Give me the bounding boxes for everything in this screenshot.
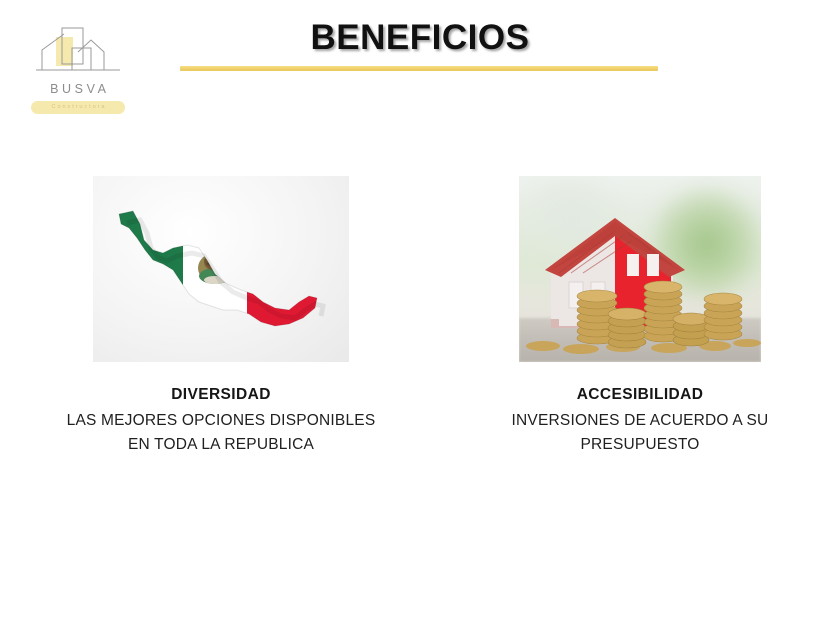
- mexico-map-shape: [103, 198, 339, 344]
- benefit-body-line: LAS MEJORES OPCIONES DISPONIBLES: [16, 409, 426, 433]
- benefit-body-line: PRESUPUESTO: [456, 433, 824, 457]
- house-with-coin-stacks-image: [519, 176, 761, 362]
- house-coins-shape: [519, 176, 761, 362]
- benefit-body-line: INVERSIONES DE ACUERDO A SU: [456, 409, 824, 433]
- benefit-column-accesibilidad: ACCESIBILIDAD INVERSIONES DE ACUERDO A S…: [456, 176, 824, 457]
- benefit-body-line: EN TODA LA REPUBLICA: [16, 433, 426, 457]
- brand-logo: BUSVA Constructora: [28, 26, 128, 118]
- benefit-body: INVERSIONES DE ACUERDO A SU PRESUPUESTO: [456, 409, 824, 456]
- benefit-heading: ACCESIBILIDAD: [456, 384, 824, 406]
- logo-tagline: Constructora: [31, 101, 125, 114]
- benefit-heading: DIVERSIDAD: [16, 384, 426, 406]
- logo-wordmark: BUSVA: [28, 82, 128, 96]
- mexico-map-flag-image: [93, 176, 349, 362]
- benefit-body: LAS MEJORES OPCIONES DISPONIBLES EN TODA…: [16, 409, 426, 456]
- page-title: BENEFICIOS: [120, 18, 720, 58]
- title-divider: [180, 66, 658, 71]
- building-outline-icon: [28, 26, 128, 82]
- benefit-column-diversidad: DIVERSIDAD LAS MEJORES OPCIONES DISPONIB…: [16, 176, 426, 457]
